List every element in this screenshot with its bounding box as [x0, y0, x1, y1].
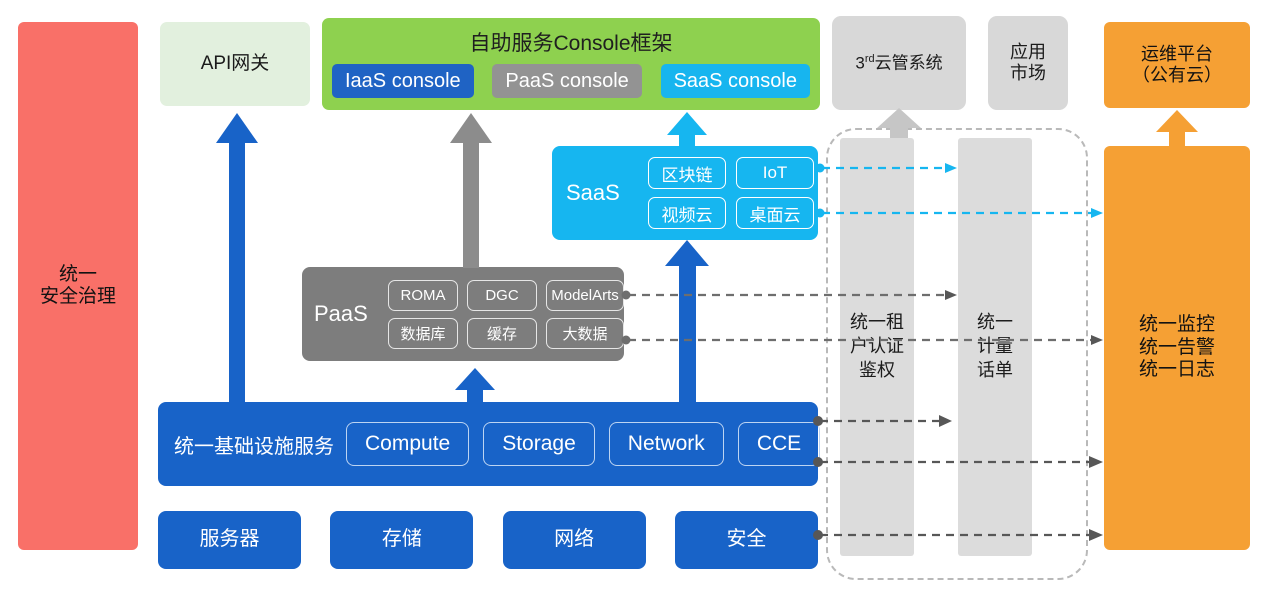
paas-item-database[interactable]: 数据库	[388, 318, 458, 349]
resource-server[interactable]: 服务器	[158, 511, 301, 569]
console-pill-row: IaaS console PaaS console SaaS console	[332, 62, 810, 100]
panel-ops-platform: 统一监控 统一告警 统一日志	[1104, 146, 1250, 550]
ops-line-1: 统一监控	[1139, 314, 1215, 336]
box-ops-platform-header: 运维平台 （公有云）	[1104, 22, 1250, 108]
security-line-1: 统一	[40, 264, 116, 286]
infra-item-network[interactable]: Network	[609, 422, 724, 466]
console-framework-title: 自助服务Console框架	[322, 27, 820, 57]
ops-header-line-2: （公有云）	[1132, 65, 1222, 86]
arrow-ops-body-to-header	[1156, 110, 1198, 147]
infra-item-cce[interactable]: CCE	[738, 422, 820, 466]
paas-item-bigdata[interactable]: 大数据	[546, 318, 624, 349]
saas-item-grid: 区块链 IoT 视频云 桌面云	[648, 157, 814, 229]
third-cloud-prefix: 3	[855, 53, 864, 72]
panel-console-framework: 自助服务Console框架 IaaS console PaaS console …	[322, 18, 820, 110]
column-unified-metering: 统一 计量 话单	[958, 138, 1032, 556]
ops-header-line-1: 运维平台	[1132, 44, 1222, 65]
resource-security[interactable]: 安全	[675, 511, 818, 569]
bar-unified-infrastructure: 统一基础设施服务 Compute Storage Network CCE	[158, 402, 818, 486]
panel-unified-security: 统一 安全治理	[18, 22, 138, 550]
paas-label: PaaS	[302, 301, 388, 327]
app-market-line-1: 应用	[1010, 42, 1046, 63]
saas-item-video-cloud[interactable]: 视频云	[648, 197, 726, 229]
pill-paas-console[interactable]: PaaS console	[492, 64, 641, 98]
block-paas: PaaS ROMA DGC ModelArts 数据库 缓存 大数据	[302, 267, 624, 361]
infra-item-compute[interactable]: Compute	[346, 422, 469, 466]
third-cloud-suffix: 云管系统	[875, 53, 943, 72]
security-line-2: 安全治理	[40, 286, 116, 308]
arrow-infra-to-api-gateway	[216, 113, 258, 402]
architecture-diagram-canvas: 统一 安全治理 API网关 自助服务Console框架 IaaS console…	[0, 0, 1265, 605]
infra-item-storage[interactable]: Storage	[483, 422, 595, 466]
saas-item-desktop-cloud[interactable]: 桌面云	[736, 197, 814, 229]
saas-item-iot[interactable]: IoT	[736, 157, 814, 189]
arrow-infra-to-saas	[665, 240, 709, 402]
column-unified-tenant-auth: 统一租 户认证 鉴权	[840, 138, 914, 556]
box-app-market: 应用 市场	[988, 16, 1068, 110]
third-cloud-text: 3rd云管系统	[855, 53, 942, 74]
metering-line-2: 计量	[977, 335, 1013, 359]
saas-label: SaaS	[552, 180, 648, 206]
arrow-paas-to-console	[450, 113, 492, 268]
row-physical-resources: 服务器 存储 网络 安全	[158, 511, 818, 569]
pill-iaas-console[interactable]: IaaS console	[332, 64, 474, 98]
infra-label: 统一基础设施服务	[174, 430, 334, 459]
pill-saas-console[interactable]: SaaS console	[661, 64, 810, 98]
saas-item-blockchain[interactable]: 区块链	[648, 157, 726, 189]
ops-line-3: 统一日志	[1139, 359, 1215, 381]
arrow-infra-to-paas	[455, 368, 495, 403]
metering-line-1: 统一	[977, 311, 1013, 335]
resource-storage[interactable]: 存储	[330, 511, 473, 569]
auth-line-3: 鉴权	[850, 359, 904, 383]
resource-network[interactable]: 网络	[503, 511, 646, 569]
auth-line-2: 户认证	[850, 335, 904, 359]
paas-item-cache[interactable]: 缓存	[467, 318, 537, 349]
ops-line-2: 统一告警	[1139, 337, 1215, 359]
block-saas: SaaS 区块链 IoT 视频云 桌面云	[552, 146, 818, 240]
metering-line-3: 话单	[977, 359, 1013, 383]
third-cloud-superscript: rd	[865, 53, 875, 65]
arrow-saas-to-saas-console	[667, 112, 707, 147]
ops-body: 统一监控 统一告警 统一日志	[1139, 314, 1215, 381]
box-third-party-cloud-mgmt: 3rd云管系统	[832, 16, 966, 110]
paas-item-roma[interactable]: ROMA	[388, 280, 458, 311]
paas-item-grid: ROMA DGC ModelArts 数据库 缓存 大数据	[388, 280, 624, 349]
box-api-gateway: API网关	[160, 22, 310, 106]
app-market-line-2: 市场	[1010, 63, 1046, 84]
api-gateway-label: API网关	[201, 53, 270, 75]
infra-chip-row: Compute Storage Network CCE	[346, 422, 820, 466]
paas-item-modelarts[interactable]: ModelArts	[546, 280, 624, 311]
auth-line-1: 统一租	[850, 311, 904, 335]
paas-item-dgc[interactable]: DGC	[467, 280, 537, 311]
